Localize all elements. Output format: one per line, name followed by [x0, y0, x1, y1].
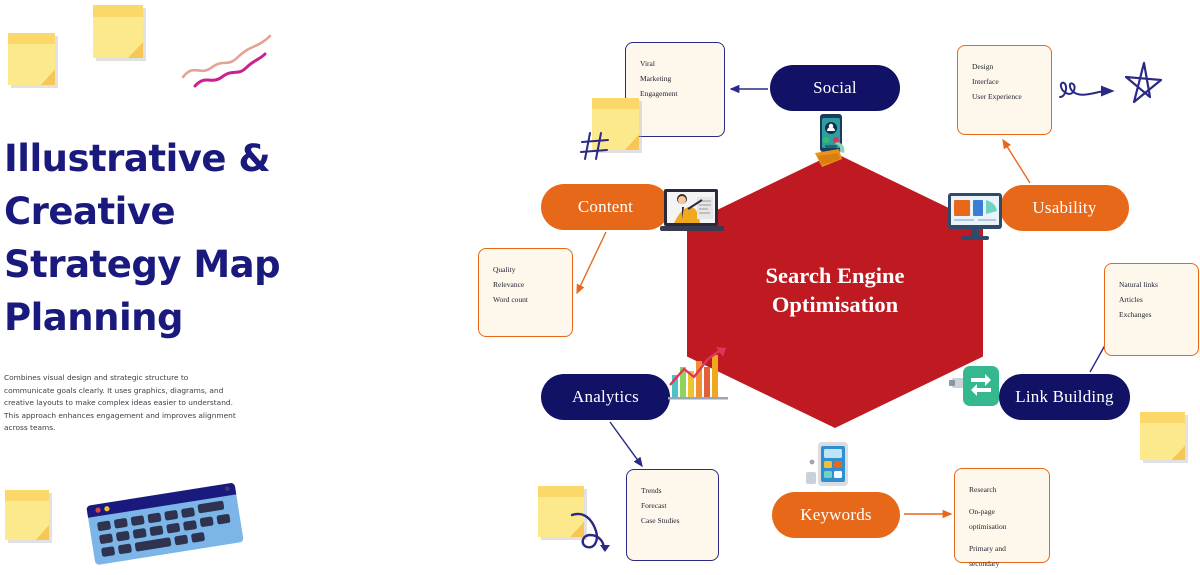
detail-line: Relevance — [493, 278, 560, 292]
detail-line: Word count — [493, 293, 560, 307]
sticky-strip — [8, 33, 55, 44]
detail-line: Natural links — [1119, 278, 1186, 292]
desktop-monitor-icon — [945, 190, 1009, 245]
node-analytics[interactable]: Analytics — [541, 374, 670, 420]
detail-card-usability[interactable]: Design Interface User Experience — [957, 45, 1052, 135]
tablet-icon — [804, 438, 856, 496]
detail-line: Research — [969, 483, 1037, 497]
detail-line: On-page — [969, 505, 1037, 519]
detail-line: Case Studies — [641, 514, 706, 528]
laptop-presenter-icon — [660, 185, 728, 240]
hash-doodle — [580, 130, 610, 162]
page-title: Illustrative & Creative Strategy Map Pla… — [4, 132, 334, 344]
sticky-strip — [592, 98, 639, 109]
sticky-note-top-left — [8, 33, 55, 85]
keyboard-illustration — [82, 480, 247, 568]
detail-line: Viral — [640, 57, 712, 71]
center-label-line-2: Optimisation — [687, 290, 983, 319]
detail-line: Primary and — [969, 542, 1037, 556]
node-social[interactable]: Social — [770, 65, 900, 111]
sticky-strip — [1140, 412, 1185, 423]
node-content[interactable]: Content — [541, 184, 670, 230]
squiggle-lines-decor — [180, 30, 275, 90]
exchange-arrows-icon — [947, 360, 1005, 415]
detail-line: optimisation — [969, 520, 1037, 534]
detail-line: Forecast — [641, 499, 706, 513]
detail-line: Engagement — [640, 87, 712, 101]
detail-line: Exchanges — [1119, 308, 1186, 322]
intro-paragraph: Combines visual design and strategic str… — [4, 372, 236, 435]
mindmap-region: Search Engine Optimisation Social Usabil… — [470, 0, 1200, 575]
strategy-map-canvas: Illustrative & Creative Strategy Map Pla… — [0, 0, 1200, 575]
detail-card-link-building[interactable]: Natural links Articles Exchanges — [1104, 263, 1199, 356]
detail-line: Interface — [972, 75, 1039, 89]
detail-line: Marketing — [640, 72, 712, 86]
detail-line: Quality — [493, 263, 560, 277]
detail-card-keywords[interactable]: Research On-page optimisation Primary an… — [954, 468, 1050, 563]
center-node-label: Search Engine Optimisation — [687, 261, 983, 319]
detail-card-content[interactable]: Quality Relevance Word count — [478, 248, 573, 337]
center-label-line-1: Search Engine — [687, 261, 983, 290]
detail-line: Design — [972, 60, 1039, 74]
node-link-building[interactable]: Link Building — [999, 374, 1130, 420]
detail-line: Articles — [1119, 293, 1186, 307]
sticky-strip — [93, 5, 143, 17]
detail-line: Trends — [641, 484, 706, 498]
star-with-arrow-doodle — [1058, 55, 1190, 125]
sticky-note-top — [93, 5, 143, 58]
detail-card-social[interactable]: Viral Marketing Engagement — [625, 42, 725, 137]
sticky-strip — [5, 490, 49, 501]
spiral-doodle — [570, 505, 622, 555]
sticky-note-link-building — [1140, 412, 1185, 460]
node-keywords[interactable]: Keywords — [772, 492, 900, 538]
detail-line: secondary — [969, 557, 1037, 571]
phone-in-hand-icon — [803, 112, 857, 170]
sticky-strip — [538, 486, 584, 497]
sticky-note-bottom-left — [5, 490, 49, 540]
detail-card-analytics[interactable]: Trends Forecast Case Studies — [626, 469, 719, 561]
node-usability[interactable]: Usability — [1000, 185, 1129, 231]
bar-chart-icon — [668, 345, 735, 405]
left-info-panel: Illustrative & Creative Strategy Map Pla… — [0, 0, 470, 575]
detail-line: User Experience — [972, 90, 1039, 104]
